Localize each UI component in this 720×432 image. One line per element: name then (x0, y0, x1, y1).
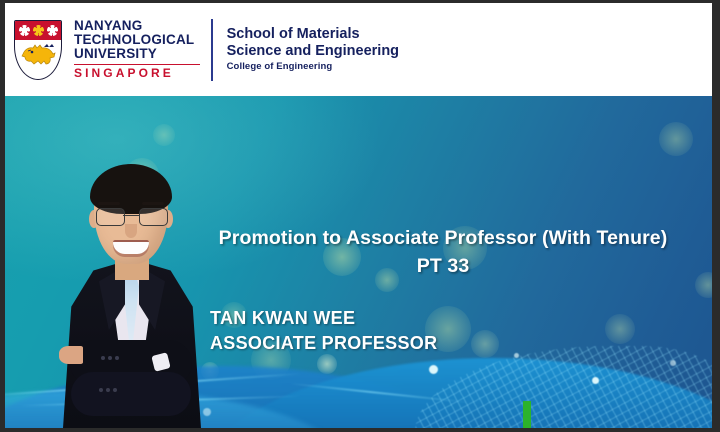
lens-right (139, 208, 168, 226)
slide-body: Promotion to Associate Professor (With T… (5, 96, 712, 428)
green-marker-bar (523, 401, 531, 428)
header-vertical-divider (211, 19, 213, 81)
school-line-1: School of Materials (227, 26, 399, 42)
title-line-2: PT 33 (179, 253, 707, 281)
glasses-bridge (123, 215, 139, 216)
school-line-2: Science and Engineering (227, 43, 399, 59)
sleeve-buttons-lower (99, 388, 117, 392)
slide-title: Promotion to Associate Professor (With T… (179, 225, 707, 280)
nose (125, 224, 137, 238)
rosette-icon-right (47, 25, 58, 36)
slide-header: NANYANG TECHNOLOGICAL UNIVERSITY SINGAPO… (5, 3, 712, 96)
eyebrow-right (142, 202, 164, 205)
bokeh-circle (659, 122, 693, 156)
bokeh-circle (153, 124, 175, 146)
lion-icon (20, 41, 58, 67)
particle-dot (670, 360, 676, 366)
shield-shape (14, 20, 62, 80)
presenter-block: TAN KWAN WEE ASSOCIATE PROFESSOR (210, 306, 437, 356)
rosette-icon-center (33, 25, 44, 36)
bokeh-circle (605, 314, 635, 344)
crest-red-band (15, 21, 61, 40)
bokeh-circle (471, 330, 499, 358)
presenter-name: TAN KWAN WEE (210, 306, 437, 331)
ntu-line-3: UNIVERSITY (74, 47, 200, 61)
hand (59, 346, 83, 364)
presentation-slide: NANYANG TECHNOLOGICAL UNIVERSITY SINGAPO… (0, 0, 720, 432)
particle-dot (514, 353, 519, 358)
lens-left (96, 208, 125, 226)
wordmark-divider (74, 64, 200, 66)
smile (113, 240, 149, 254)
particle-dot (592, 377, 599, 384)
presenter-title: ASSOCIATE PROFESSOR (210, 331, 437, 356)
ntu-crest-icon (14, 20, 62, 80)
ntu-country-label: SINGAPORE (74, 67, 200, 79)
particle-mesh (415, 346, 712, 428)
ntu-line-1: NANYANG (74, 19, 200, 33)
wave-layer-2 (189, 358, 712, 428)
eyebrow-left (98, 202, 120, 205)
school-subline: College of Engineering (227, 62, 399, 73)
ntu-line-2: TECHNOLOGICAL (74, 33, 200, 47)
crossed-arm-lower (71, 372, 191, 416)
rosette-icon-left (19, 25, 30, 36)
presenter-portrait (53, 158, 209, 428)
sleeve-buttons-upper (101, 356, 119, 360)
hair (90, 164, 172, 214)
ntu-wordmark: NANYANG TECHNOLOGICAL UNIVERSITY SINGAPO… (74, 19, 200, 79)
ntu-logo-lockup: NANYANG TECHNOLOGICAL UNIVERSITY SINGAPO… (14, 19, 200, 79)
title-line-1: Promotion to Associate Professor (With T… (179, 225, 707, 253)
school-wordmark: School of Materials Science and Engineer… (227, 26, 399, 72)
bokeh-circle (317, 354, 337, 374)
eyeglasses-icon (94, 208, 168, 225)
light-streak (288, 382, 471, 403)
particle-dot (429, 365, 438, 374)
